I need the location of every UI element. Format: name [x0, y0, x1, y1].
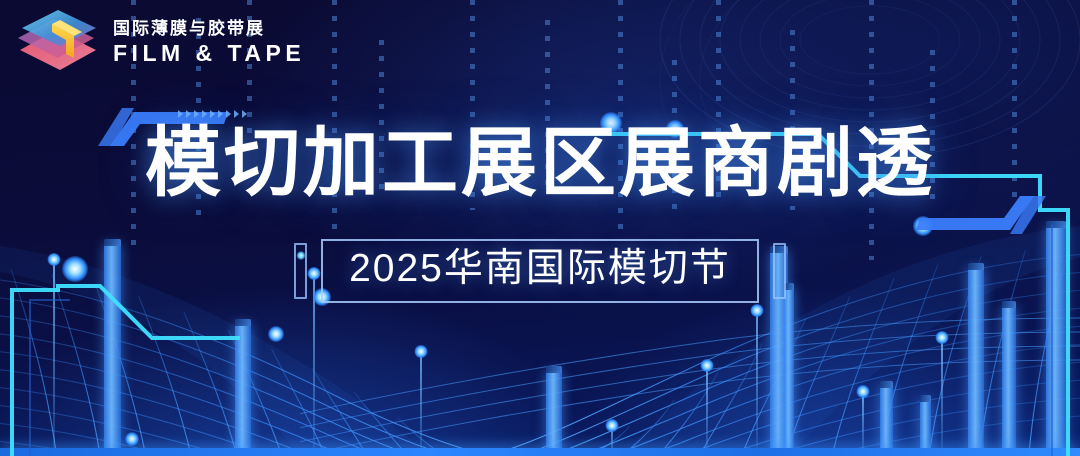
logo-chinese-name: 国际薄膜与胶带展 — [113, 19, 305, 39]
chevron-icon — [218, 110, 223, 118]
lamp-post — [706, 366, 708, 456]
tower-bar — [880, 386, 893, 456]
chevron-icon — [178, 110, 183, 118]
subtitle-box: 2025华南国际模切节 — [321, 239, 759, 303]
subtitle-tick-right — [773, 243, 786, 299]
chevron-icon — [226, 110, 231, 118]
chevron-icon — [210, 110, 215, 118]
page-title: 模切加工展区展商剧透 — [0, 126, 1080, 202]
tower-face — [546, 371, 562, 456]
terrain-glow-right — [540, 286, 1080, 456]
tower-face — [235, 324, 251, 456]
glow-dot — [268, 326, 284, 342]
tower-cap — [235, 319, 251, 326]
tower-face — [880, 386, 893, 456]
subtitle-row: 2025华南国际模切节 — [0, 239, 1080, 303]
tower-bar — [546, 371, 562, 456]
logo-english-name: FILM & TAPE — [113, 41, 305, 65]
chevron-icon — [234, 110, 239, 118]
chevron-icon — [202, 110, 207, 118]
tower-face — [1002, 306, 1016, 456]
tower-cap — [880, 381, 893, 388]
chevron-icon — [194, 110, 199, 118]
subtitle-text: 2025华南国际模切节 — [349, 248, 731, 291]
glow-dot — [913, 216, 933, 236]
tower-cap — [1046, 221, 1066, 228]
tower-bar — [235, 324, 251, 456]
chevron-row-decoration — [178, 110, 247, 118]
tower-cap — [920, 395, 931, 402]
stacked-layers-logo-icon — [14, 8, 102, 76]
lamp-post — [941, 338, 943, 456]
subtitle-tick-left — [294, 243, 307, 299]
chevron-icon — [242, 110, 247, 118]
chevron-icon — [186, 110, 191, 118]
tower-face — [784, 288, 794, 456]
exhibition-logo[interactable]: 国际薄膜与胶带展 FILM & TAPE — [14, 8, 305, 76]
terrain-glow-left — [0, 286, 616, 456]
tower-bar — [1002, 306, 1016, 456]
promo-banner: 国际薄膜与胶带展 FILM & TAPE 模切加工展区展商剧透 2025华南国际… — [0, 0, 1080, 456]
glow-dot — [125, 432, 139, 446]
bottom-light-band — [0, 448, 1080, 456]
tower-cap — [546, 366, 562, 373]
lamp-post — [756, 311, 758, 456]
lamp-post — [420, 352, 422, 456]
lamp-post — [862, 392, 864, 456]
tower-bar — [784, 288, 794, 456]
